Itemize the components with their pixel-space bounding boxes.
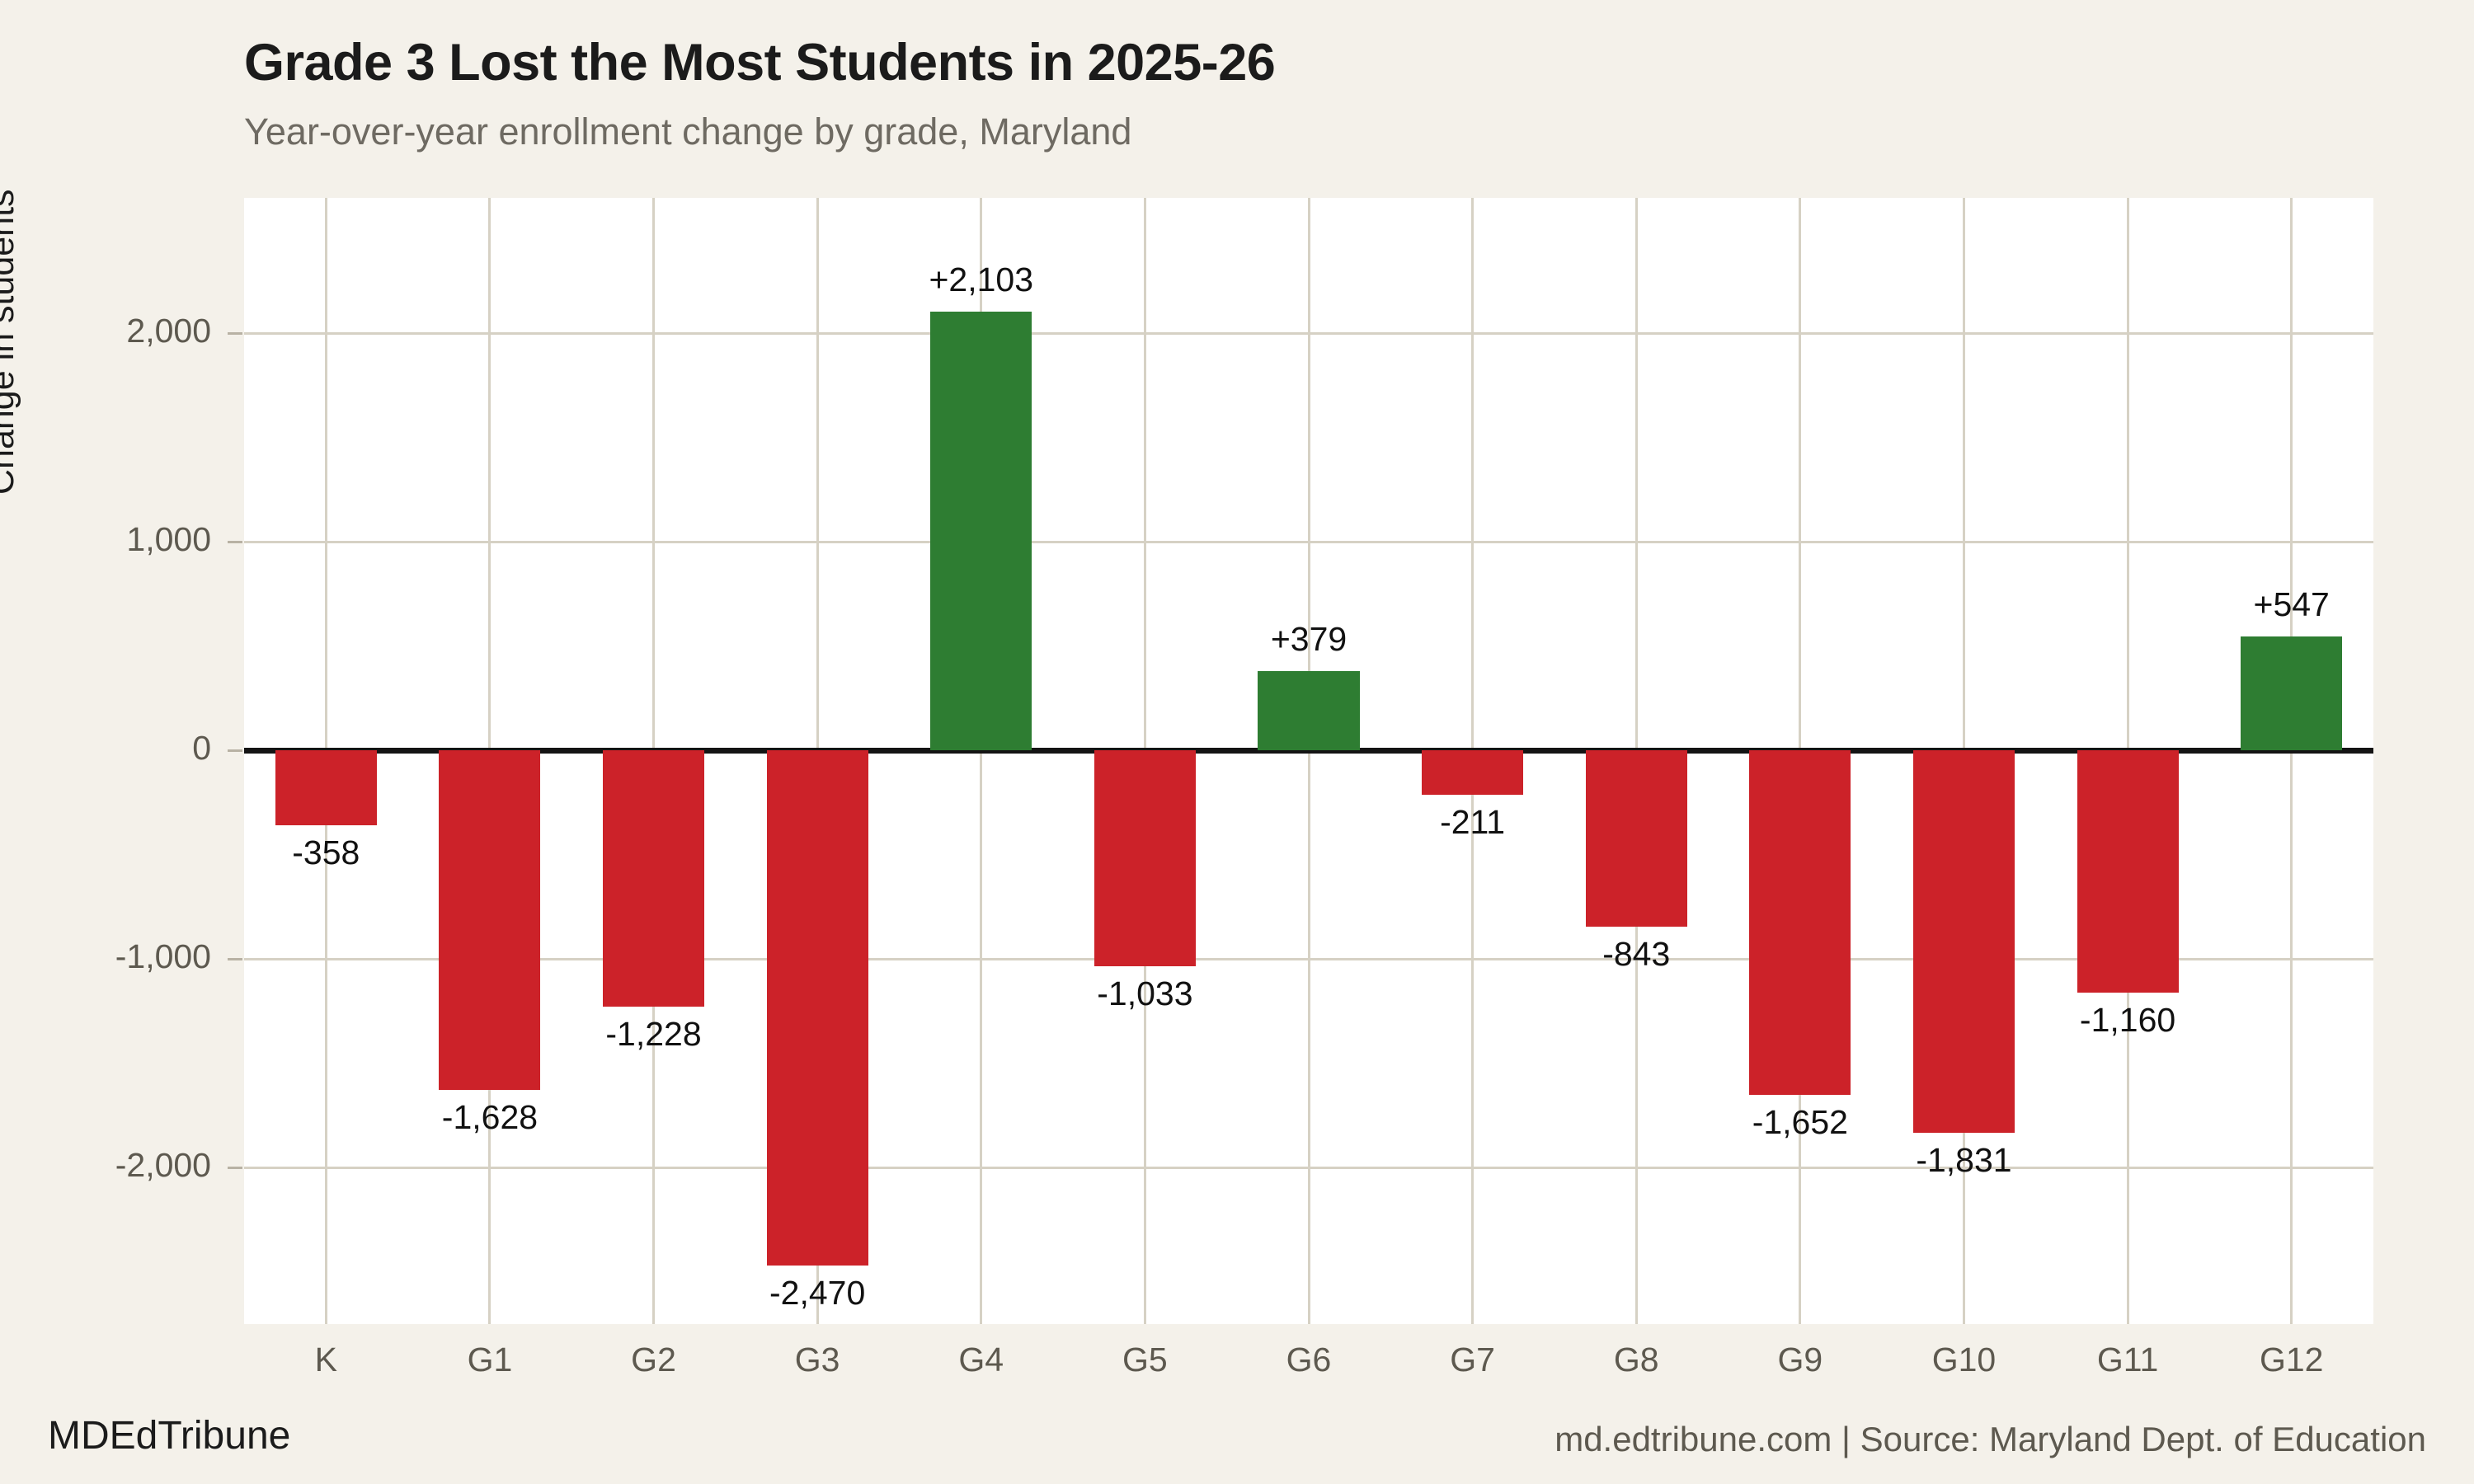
chart-subtitle: Year-over-year enrollment change by grad… — [244, 110, 1131, 153]
bar-value-label: -1,652 — [1752, 1103, 1848, 1142]
gridline-vertical — [1308, 198, 1310, 1324]
y-tick-mark — [228, 1167, 242, 1169]
x-tick-label-g4: G4 — [958, 1341, 1004, 1379]
bar-g8[interactable] — [1586, 750, 1687, 926]
bar-value-label: -211 — [1440, 803, 1505, 842]
y-tick-mark — [228, 749, 242, 752]
y-tick-label: -1,000 — [115, 937, 211, 976]
x-tick-label-g1: G1 — [468, 1341, 513, 1379]
bar-value-label: -1,228 — [605, 1015, 701, 1054]
footer-source: md.edtribune.com | Source: Maryland Dept… — [1554, 1420, 2426, 1459]
bar-k[interactable] — [275, 750, 377, 825]
x-tick-label-g7: G7 — [1450, 1341, 1495, 1379]
bar-value-label: -1,160 — [2080, 1001, 2175, 1040]
bar-value-label: -843 — [1602, 935, 1670, 974]
x-tick-label-g9: G9 — [1777, 1341, 1823, 1379]
bar-value-label: -1,628 — [442, 1098, 538, 1137]
bar-value-label: -1,033 — [1097, 974, 1192, 1013]
x-tick-label-g10: G10 — [1932, 1341, 1997, 1379]
x-tick-label-g3: G3 — [795, 1341, 840, 1379]
bar-g6[interactable] — [1258, 671, 1359, 750]
x-tick-label-g8: G8 — [1614, 1341, 1659, 1379]
bar-g7[interactable] — [1422, 750, 1523, 794]
bar-g10[interactable] — [1913, 750, 2015, 1132]
x-tick-label-g5: G5 — [1122, 1341, 1168, 1379]
x-tick-label-k: K — [315, 1341, 337, 1379]
chart-title: Grade 3 Lost the Most Students in 2025-2… — [244, 33, 1275, 92]
x-tick-label-g2: G2 — [631, 1341, 676, 1379]
bar-g11[interactable] — [2077, 750, 2179, 992]
y-tick-label: 0 — [192, 729, 211, 768]
bar-g1[interactable] — [439, 750, 540, 1090]
bar-value-label: +547 — [2254, 585, 2330, 624]
y-tick-mark — [228, 541, 242, 543]
bar-value-label: +2,103 — [929, 261, 1033, 299]
y-axis-title: Change in students — [0, 0, 22, 495]
bar-value-label: +379 — [1271, 620, 1347, 659]
bar-g2[interactable] — [603, 750, 704, 1007]
x-tick-label-g12: G12 — [2260, 1341, 2324, 1379]
x-tick-label-g11: G11 — [2097, 1341, 2158, 1379]
bar-g3[interactable] — [767, 750, 868, 1266]
gridline-vertical — [2290, 198, 2293, 1324]
y-tick-label: 2,000 — [126, 312, 211, 350]
y-tick-mark — [228, 958, 242, 960]
bar-g4[interactable] — [930, 312, 1032, 750]
footer-brand: MDEdTribune — [48, 1413, 290, 1458]
bar-g9[interactable] — [1749, 750, 1851, 1095]
y-tick-label: 1,000 — [126, 520, 211, 559]
y-tick-label: -2,000 — [115, 1146, 211, 1185]
bar-value-label: -358 — [292, 834, 360, 872]
bar-value-label: -1,831 — [1916, 1141, 2011, 1180]
plot-area: -358-1,628-1,228-2,470+2,103-1,033+379-2… — [244, 198, 2373, 1324]
x-tick-label-g6: G6 — [1286, 1341, 1332, 1379]
bar-g12[interactable] — [2241, 636, 2342, 750]
bar-g5[interactable] — [1094, 750, 1196, 965]
y-tick-mark — [228, 332, 242, 335]
chart-canvas: Grade 3 Lost the Most Students in 2025-2… — [0, 0, 2474, 1484]
bar-value-label: -2,470 — [769, 1274, 865, 1313]
